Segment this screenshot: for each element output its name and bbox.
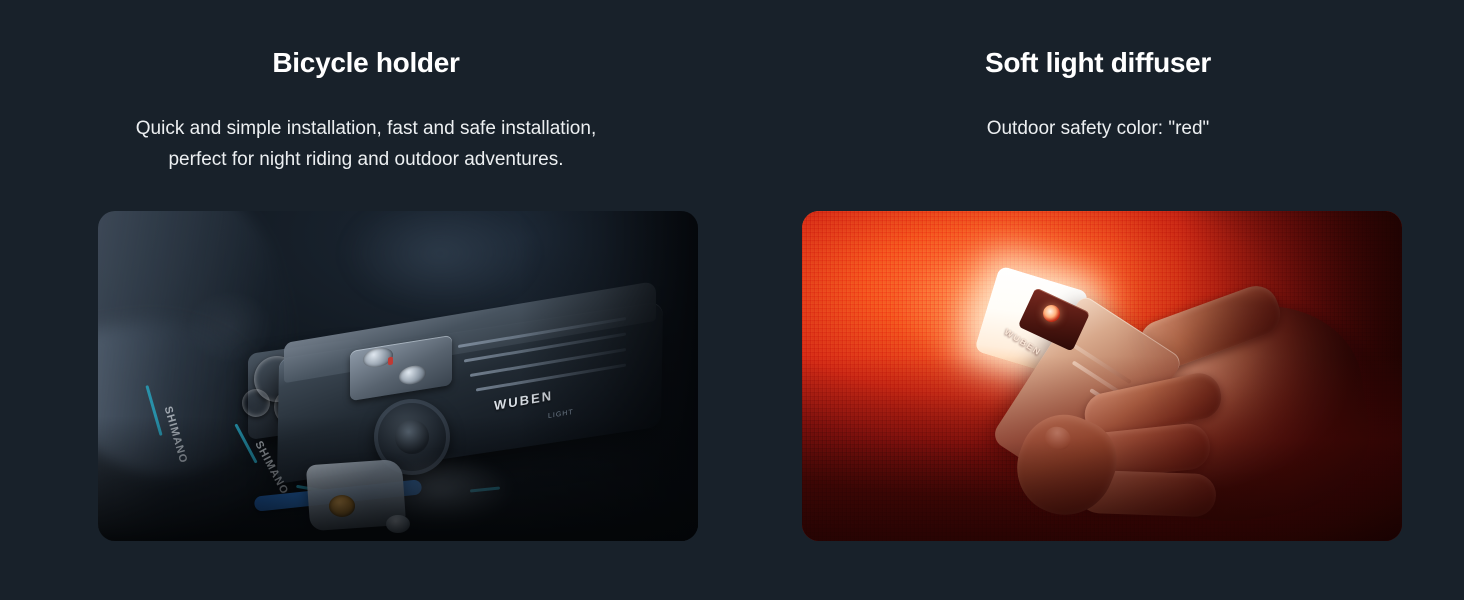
feature-panels-page: Bicycle holder Quick and simple installa… — [0, 0, 1464, 600]
panel-bicycle-holder: Bicycle holder Quick and simple installa… — [0, 0, 732, 600]
product-image-soft-light-diffuser: WUBEN — [802, 211, 1402, 541]
flashlight-lens-tertiary — [242, 389, 270, 417]
photo-vignette — [802, 211, 1402, 541]
panel-description-soft-light-diffuser: Outdoor safety color: "red" — [732, 113, 1464, 144]
photo-bottom-shadow — [98, 416, 698, 541]
panel-title-soft-light-diffuser: Soft light diffuser — [732, 46, 1464, 80]
product-image-bicycle-holder: WUBEN LIGHT SHIMANO SHIMANO — [98, 211, 698, 541]
panel-title-bicycle-holder: Bicycle holder — [0, 46, 732, 80]
panel-description-bicycle-holder: Quick and simple installation, fast and … — [0, 113, 732, 175]
panel-soft-light-diffuser: Soft light diffuser Outdoor safety color… — [732, 0, 1464, 600]
soft-light-diffuser-photo: WUBEN — [802, 211, 1402, 541]
bicycle-holder-photo: WUBEN LIGHT SHIMANO SHIMANO — [98, 211, 698, 541]
